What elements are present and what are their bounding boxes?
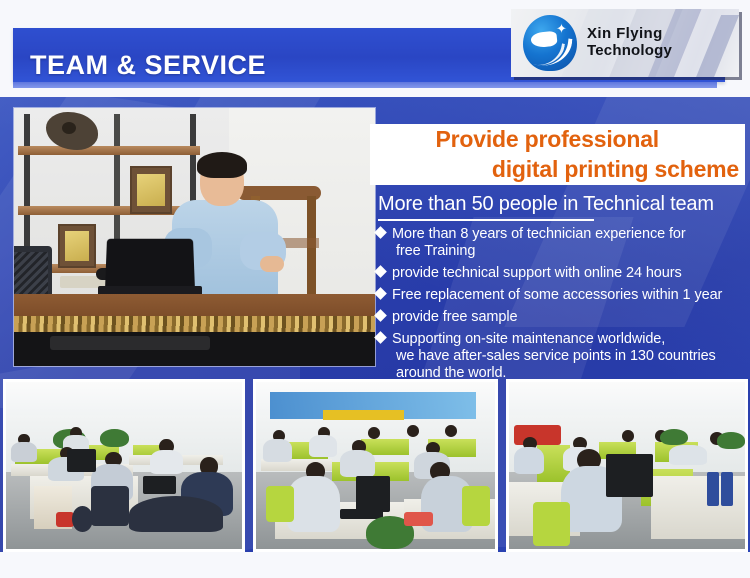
- diamond-bullet-icon: [374, 331, 387, 344]
- subhead-text: More than 50 people in Technical team: [378, 192, 738, 216]
- documents: [404, 512, 433, 525]
- company-logo: ✦ Xin Flying Technology: [511, 9, 739, 77]
- person-body: [287, 476, 340, 533]
- bullet-line: More than 8 years of technician experien…: [392, 226, 744, 243]
- binder: [707, 472, 719, 505]
- decorative-rock: [46, 112, 98, 150]
- bullet-line: we have after-sales service points in 13…: [392, 348, 744, 365]
- diamond-bullet-icon: [374, 287, 387, 300]
- logo-text: Xin Flying Technology: [587, 25, 732, 59]
- round-table: [129, 496, 223, 533]
- person-head: [445, 425, 457, 437]
- keyboard: [340, 509, 383, 519]
- person-body: [669, 445, 707, 465]
- office-scene: [509, 382, 745, 549]
- person-body: [11, 442, 37, 462]
- binder: [721, 472, 733, 505]
- office-photo-3: [506, 379, 748, 552]
- bullet-line: provide free sample: [392, 309, 744, 326]
- person-body: [514, 447, 545, 474]
- wooden-desk: [14, 294, 375, 366]
- person-head: [407, 425, 419, 437]
- laptop: [143, 476, 176, 494]
- list-item: More than 8 years of technician experien…: [376, 226, 744, 260]
- office-chair: [533, 502, 571, 545]
- diamond-bullet-icon: [374, 265, 387, 278]
- office-photo-row: [0, 379, 750, 552]
- service-bullet-list: More than 8 years of technician experien…: [376, 226, 744, 387]
- headline-line-1: Provide professional: [370, 124, 739, 154]
- office-photo-1: [3, 379, 245, 552]
- logo-text-line1: Xin Flying: [587, 25, 663, 42]
- headline-line-2: digital printing scheme: [370, 154, 739, 184]
- office-scene: [256, 382, 495, 549]
- office-scene: [6, 382, 242, 549]
- bottom-background-strip: [0, 552, 750, 578]
- bullet-line: provide technical support with online 24…: [392, 265, 744, 282]
- office-chair: [462, 486, 491, 526]
- bullet-line: Supporting on-site maintenance worldwide…: [392, 331, 744, 348]
- diamond-bullet-icon: [374, 309, 387, 322]
- flying-bird-icon: ✦: [523, 15, 577, 71]
- person-hand: [260, 256, 284, 272]
- office-photo-2: [253, 379, 498, 552]
- bullet-line: Free replacement of some accessories wit…: [392, 287, 744, 304]
- logo-text-line2: Technology: [587, 42, 672, 59]
- laptop: [98, 238, 202, 300]
- headline-text: Provide professional digital printing sc…: [370, 124, 745, 184]
- headline-box: Provide professional digital printing sc…: [370, 124, 745, 185]
- page-title: TEAM & SERVICE: [30, 50, 266, 80]
- office-plant: [660, 429, 688, 446]
- person-hair: [197, 152, 247, 178]
- desk-front-panel: [50, 336, 210, 350]
- list-item: Free replacement of some accessories wit…: [376, 287, 744, 304]
- subhead-underline: [378, 219, 594, 221]
- office-chair: [266, 486, 295, 523]
- person-body: [340, 450, 376, 477]
- office-plant: [717, 432, 745, 449]
- list-item: provide technical support with online 24…: [376, 265, 744, 282]
- shelf-board: [18, 146, 200, 155]
- laptop-screen: [105, 239, 195, 291]
- person-body: [263, 439, 292, 462]
- person-body: [309, 435, 338, 457]
- list-item: provide free sample: [376, 309, 744, 326]
- monitor: [356, 476, 389, 513]
- wall-banner-highlight: [323, 410, 404, 420]
- office-plant: [100, 429, 128, 447]
- person-head: [368, 427, 380, 439]
- chair-leg: [307, 196, 316, 304]
- award-plaque: [58, 224, 96, 268]
- monitor: [67, 449, 95, 472]
- star-icon: ✦: [556, 22, 567, 35]
- main-team-photo: [14, 108, 375, 366]
- team-service-banner: TEAM & SERVICE ✦ Xin Flying Technology: [0, 0, 750, 578]
- list-item: Supporting on-site maintenance worldwide…: [376, 331, 744, 382]
- bullet-line: free Training: [392, 243, 744, 260]
- person-body: [150, 450, 183, 473]
- diamond-bullet-icon: [374, 226, 387, 239]
- monitor: [606, 454, 653, 497]
- office-chair: [91, 486, 129, 526]
- printing-machine: [514, 425, 561, 445]
